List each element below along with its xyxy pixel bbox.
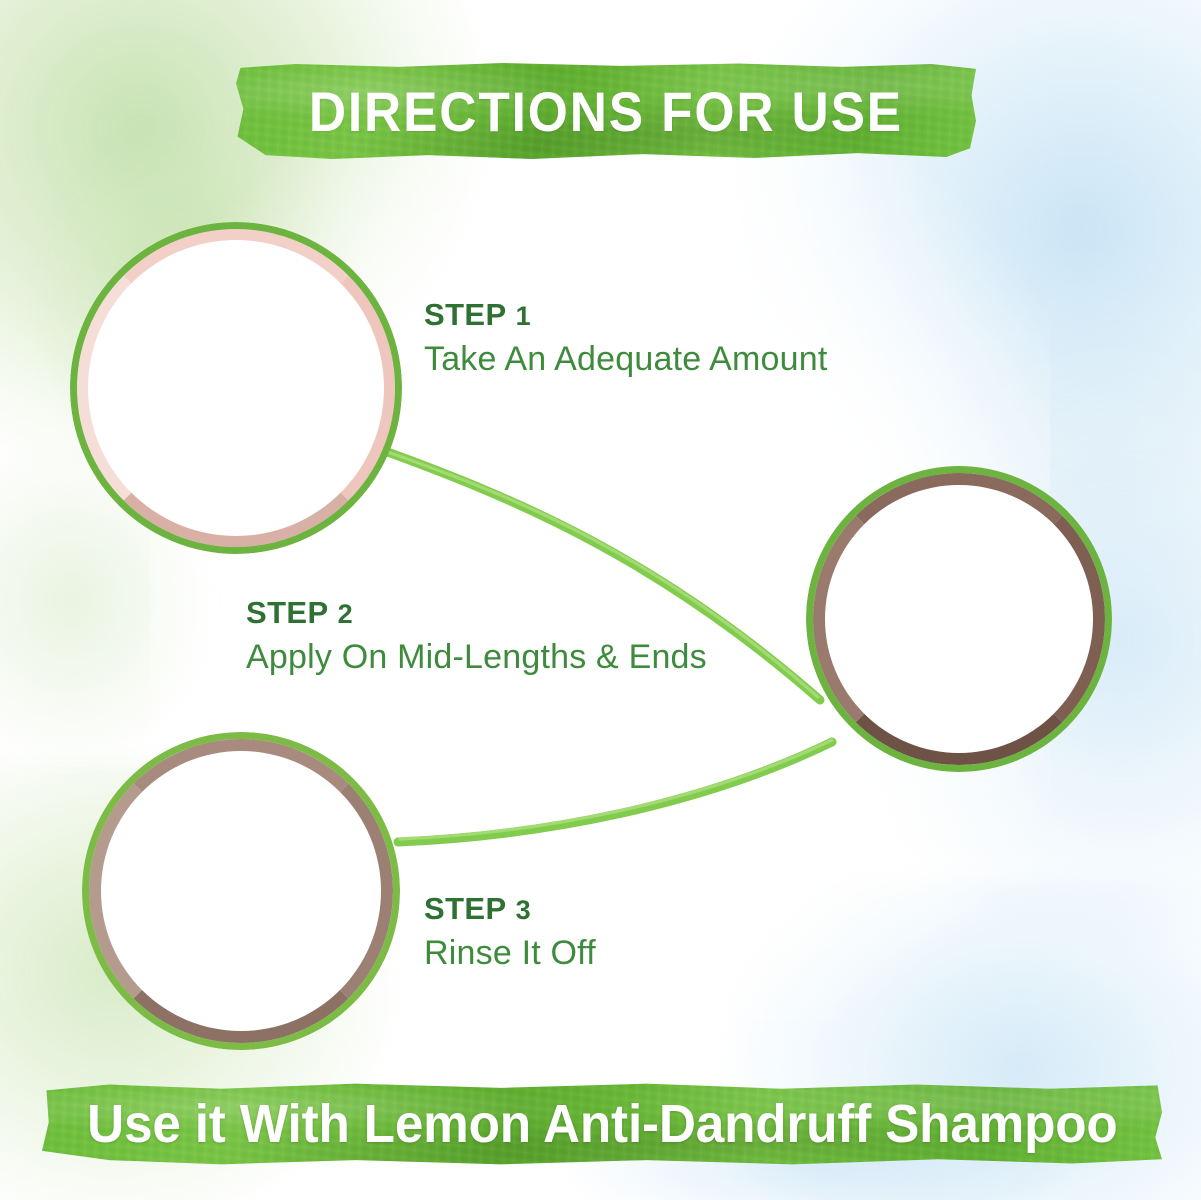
header-banner: DIRECTIONS FOR USE <box>236 62 976 160</box>
page-title: DIRECTIONS FOR USE <box>309 79 903 144</box>
step-1-image-circle <box>70 222 402 554</box>
step-3-label-word: STEP <box>424 891 507 926</box>
step-3-number: 3 <box>516 895 531 925</box>
connector-step2-to-step3 <box>398 742 832 842</box>
footer-banner: Use it With Lemon Anti-Dandruff Shampoo <box>42 1082 1162 1166</box>
step-1-number: 1 <box>516 301 531 331</box>
step-1-outer-ring <box>70 222 402 554</box>
step-2-image-circle <box>806 466 1112 772</box>
step-1-label-word: STEP <box>424 297 507 332</box>
step-2-label: STEP2 <box>246 596 707 630</box>
footer-cta-text: Use it With Lemon Anti-Dandruff Shampoo <box>87 1093 1117 1155</box>
step-3-outer-ring <box>82 732 400 1050</box>
step-1-text-block: STEP1 Take An Adequate Amount <box>424 298 827 381</box>
step-2-label-word: STEP <box>246 595 329 630</box>
step-2-description: Apply On Mid-Lengths & Ends <box>246 636 707 679</box>
step-2-outer-ring <box>806 466 1112 772</box>
step-3-image-circle <box>82 732 400 1050</box>
directions-for-use-infographic: DIRECTIONS FOR USE STEP1 Take An Adequat… <box>0 0 1201 1200</box>
connector-step2-to-step3-highlight <box>400 740 832 839</box>
step-2-text-block: STEP2 Apply On Mid-Lengths & Ends <box>246 596 707 679</box>
step-1-description: Take An Adequate Amount <box>424 338 827 381</box>
step-3-description: Rinse It Off <box>424 932 596 975</box>
step-3-text-block: STEP3 Rinse It Off <box>424 892 596 975</box>
step-3-label: STEP3 <box>424 892 596 926</box>
step-2-number: 2 <box>338 599 353 629</box>
step-1-label: STEP1 <box>424 298 827 332</box>
